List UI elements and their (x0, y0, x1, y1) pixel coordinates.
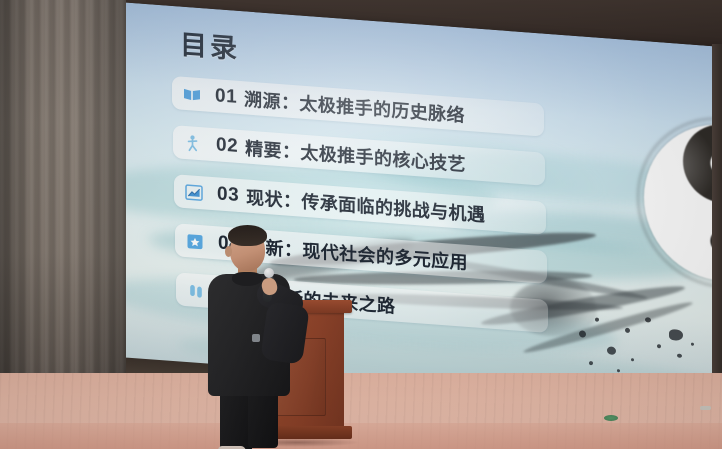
stage-floor (0, 373, 722, 449)
speaker-hair (228, 225, 267, 246)
stage-curtain-right (712, 44, 722, 404)
speaker-ear (225, 246, 232, 257)
toc-item-01[interactable]: 01 溯源：太极推手的历史脉络 (172, 76, 544, 137)
floor-marker (700, 406, 711, 410)
toc-number: 03 (217, 183, 239, 207)
toc-text: 精要：太极推手的核心技艺 (245, 134, 466, 176)
toc-item-02[interactable]: 02 精要：太极推手的核心技艺 (173, 125, 545, 186)
stage-curtain-left (0, 0, 126, 408)
speaker-collar (232, 272, 262, 286)
star-badge-icon (185, 230, 205, 251)
toc-number: 02 (216, 134, 238, 158)
speaker-leg (248, 390, 278, 448)
toc-number: 01 (215, 85, 237, 109)
slide-title: 目录 (180, 23, 240, 66)
toc-text: 溯源：太极推手的历史脉络 (244, 85, 465, 127)
microphone-icon (264, 268, 274, 278)
book-icon (182, 83, 202, 104)
stage-edge (0, 423, 722, 449)
floor-marker (604, 415, 618, 421)
speaker-badge (252, 334, 260, 342)
scene-root: 目录 01 溯源：太极推手的历史脉络 (0, 0, 722, 449)
footprints-icon (186, 280, 206, 301)
yin-yang-icon (644, 119, 718, 287)
toc-text: 现状：传承面临的挑战与机遇 (246, 183, 485, 227)
chart-icon (184, 181, 204, 202)
speaker-presenter (206, 222, 314, 440)
person-icon (183, 132, 203, 153)
speaker-arm (260, 301, 310, 364)
